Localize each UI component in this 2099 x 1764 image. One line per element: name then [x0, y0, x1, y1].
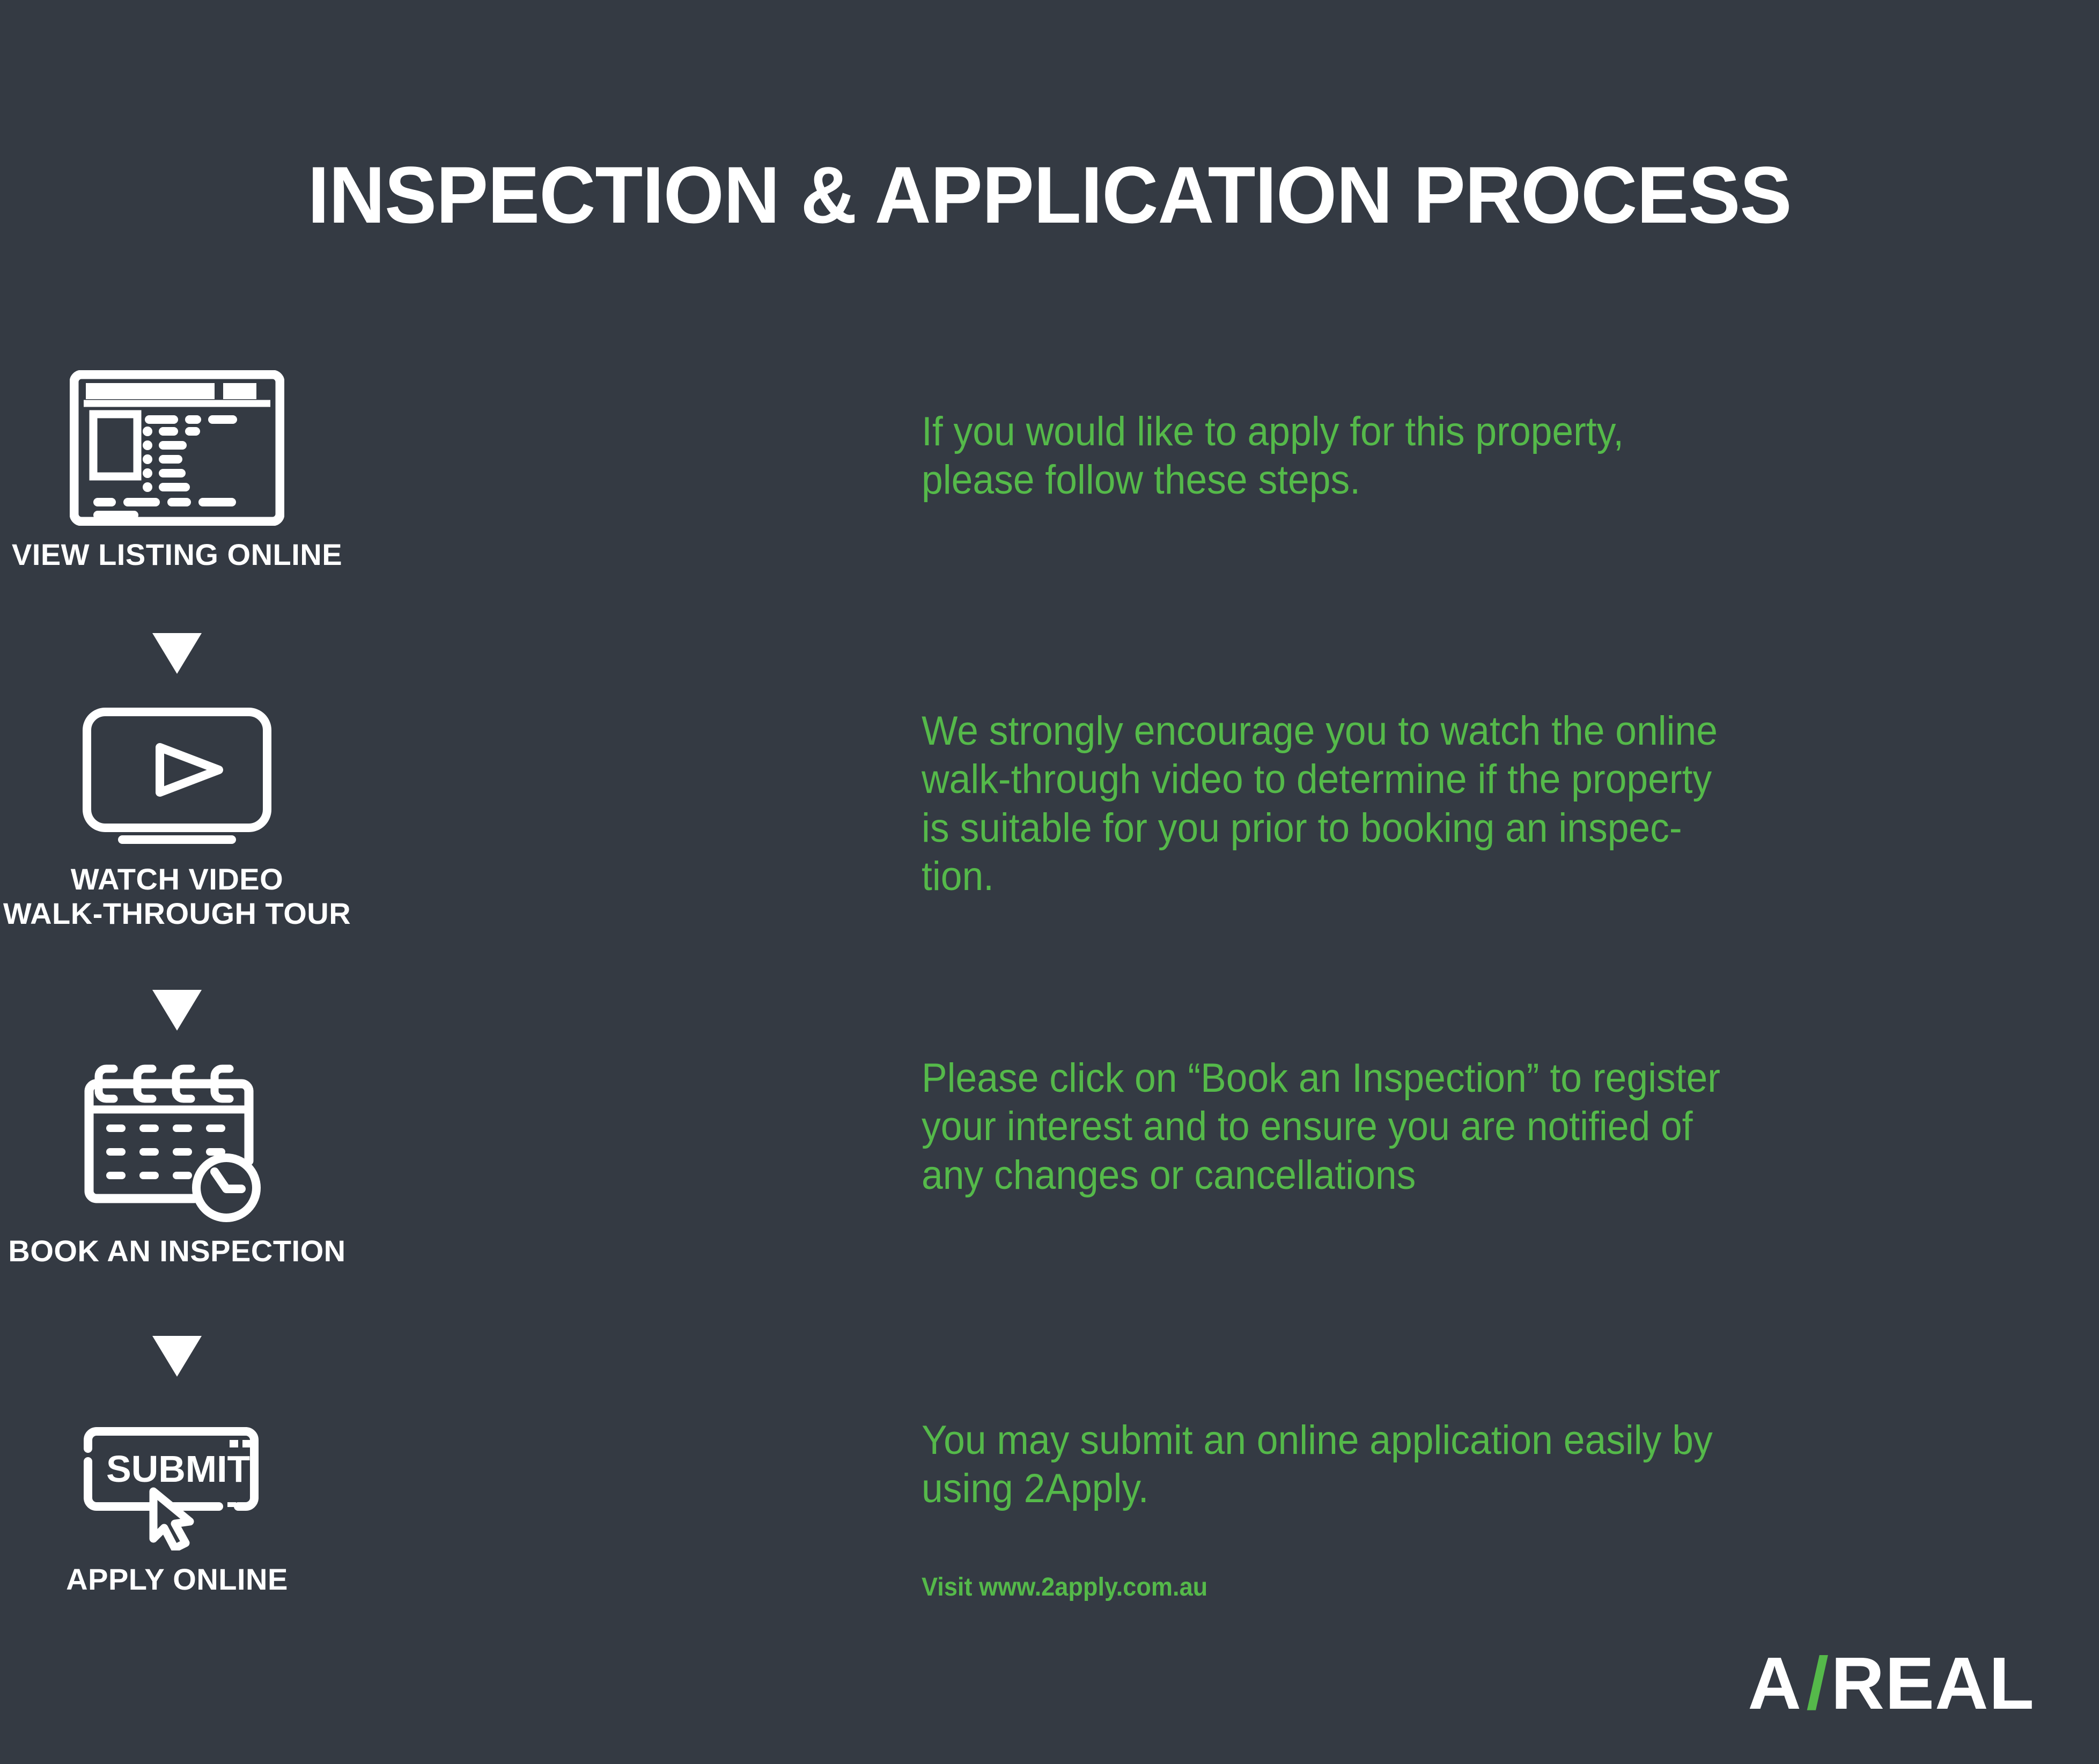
listing-window-icon — [70, 370, 284, 526]
calendar-clock-icon — [80, 1056, 274, 1222]
step-1-description: If you would like to apply for this prop… — [922, 408, 1824, 505]
visit-2apply-link[interactable]: Visit www.2apply.com.au — [922, 1572, 1824, 1603]
down-arrow-2 — [0, 990, 354, 1031]
step-2-label: WATCH VIDEO WALK-THROUGH TOUR — [3, 862, 351, 931]
submit-button-cursor-icon: SUBMIT — [75, 1416, 279, 1550]
step-1-icon-block: VIEW LISTING ONLINE — [0, 370, 354, 572]
logo-word-real: REAL — [1831, 1647, 2035, 1721]
down-arrow-icon — [152, 990, 202, 1031]
step-4-icon-block: SUBMIT APPLY ONLINE — [0, 1416, 354, 1597]
step-1-label: VIEW LISTING ONLINE — [12, 538, 342, 572]
logo-slash-icon: / — [1806, 1647, 1829, 1721]
step-2-description: We strongly encourage you to watch the o… — [922, 707, 1824, 901]
down-arrow-3 — [0, 1336, 354, 1377]
step-3-icon-block: BOOK AN INSPECTION — [0, 1056, 354, 1268]
areal-logo[interactable]: A / REAL — [1748, 1646, 2035, 1721]
submit-icon-text: SUBMIT — [106, 1448, 250, 1490]
step-3-description: Please click on “Book an Inspection” to … — [922, 1054, 1824, 1200]
down-arrow-icon — [152, 1336, 202, 1377]
step-3-label: BOOK AN INSPECTION — [8, 1234, 345, 1268]
step-4-label: APPLY ONLINE — [66, 1562, 288, 1597]
step-4-description: You may submit an online application eas… — [922, 1416, 1824, 1513]
logo-letter-a: A — [1748, 1647, 1802, 1721]
down-arrow-icon — [152, 633, 202, 674]
video-player-icon — [80, 705, 274, 850]
step-2-icon-block: WATCH VIDEO WALK-THROUGH TOUR — [0, 705, 354, 931]
infographic-page: INSPECTION & APPLICATION PROCESS — [0, 0, 2099, 1764]
down-arrow-1 — [0, 633, 354, 674]
